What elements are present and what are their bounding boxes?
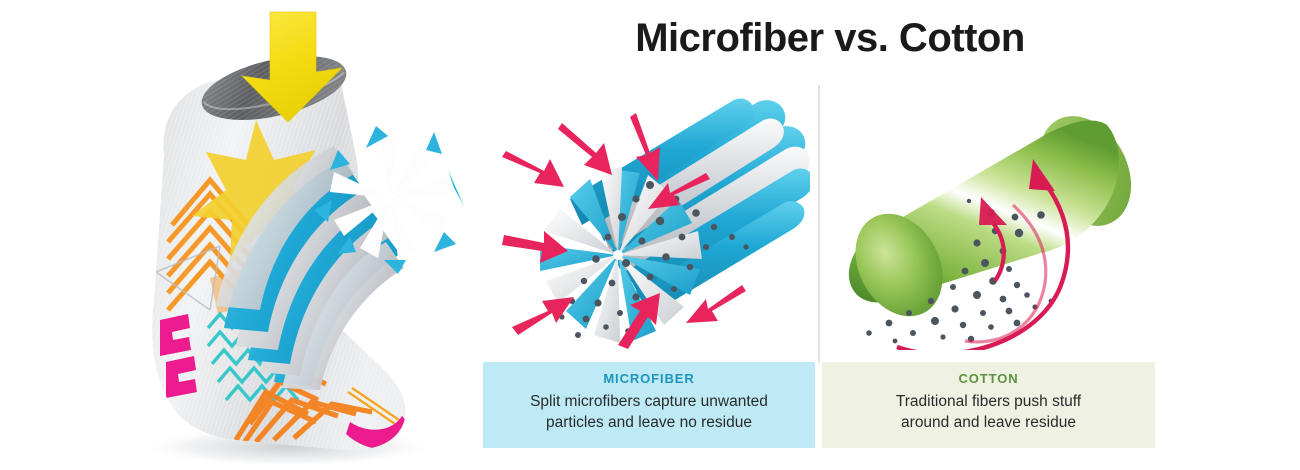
cotton-caption-panel: COTTON Traditional fibers push stuff aro… — [822, 362, 1155, 448]
arrow-inward — [686, 285, 746, 323]
microfiber-heading: MICROFIBER — [483, 372, 815, 386]
cotton-description-line1: Traditional fibers push stuff — [896, 393, 1081, 410]
arrow-inward — [558, 123, 612, 175]
vertical-divider — [818, 85, 820, 363]
page-title: Microfiber vs. Cotton — [490, 18, 1170, 58]
microfiber-description-line1: Split microfibers capture unwanted — [530, 393, 768, 410]
microfiber-illustration — [500, 95, 810, 350]
arrow-inward — [502, 151, 564, 187]
sock-illustration — [60, 10, 470, 465]
cotton-illustration — [845, 105, 1155, 350]
infographic-canvas: Microfiber vs. Cotton — [0, 0, 1300, 470]
microfiber-caption-panel: MICROFIBER Split microfibers capture unw… — [483, 362, 815, 448]
cotton-description: Traditional fibers push stuff around and… — [822, 392, 1155, 434]
cotton-heading: COTTON — [822, 372, 1155, 386]
arrow-inward — [512, 297, 574, 335]
cotton-description-line2: around and leave residue — [901, 414, 1076, 431]
microfiber-description-line2: particles and leave no residue — [546, 414, 752, 431]
microfiber-description: Split microfibers capture unwanted parti… — [483, 392, 815, 434]
